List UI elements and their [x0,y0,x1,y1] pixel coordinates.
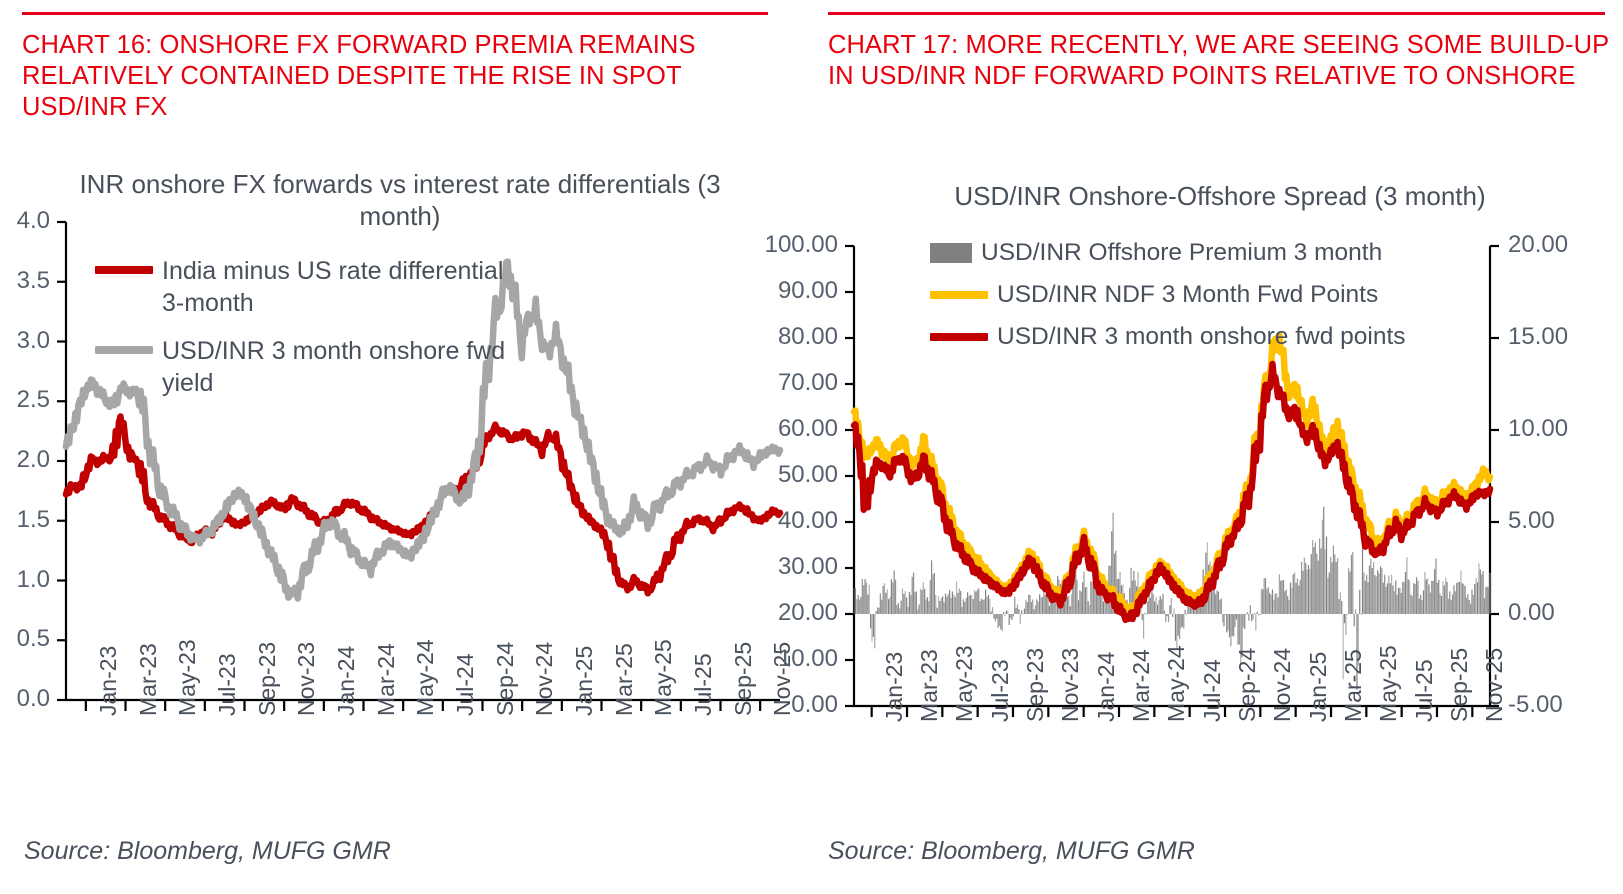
chart-17-panel: CHART 17: MORE RECENTLY, WE ARE SEEING S… [790,0,1623,894]
x-axis-tick-label: Jul-24 [452,653,479,716]
y-axis-tick-label: 1.5 [17,506,50,534]
secondary-y-axis-tick-label: 10.00 [1508,415,1568,443]
legend-label-usdinr-onshore-fwd-yield: USD/INR 3 month onshore fwd yield [162,335,525,399]
x-axis-tick-label: Nov-23 [1057,648,1084,722]
x-axis-tick-label: May-25 [650,639,677,716]
x-axis-tick-label: Mar-25 [611,643,638,716]
x-axis-tick-label: Mar-23 [135,643,162,716]
slide-page: CHART 16: ONSHORE FX FORWARD PREMIA REMA… [0,0,1623,894]
chart-17-legend: USD/INR Offshore Premium 3 month USD/INR… [930,238,1450,364]
x-axis-tick-label: Nov-23 [293,642,320,716]
legend-swatch-line-red [95,266,153,274]
y-axis-tick-label: 3.5 [17,267,50,295]
y-axis-tick-label: 80.00 [778,323,838,351]
x-axis-tick-label: May-24 [412,639,439,716]
x-axis-tick-label: Sep-25 [1446,648,1473,722]
chart-17-plot [790,0,1623,894]
y-axis-tick-label: 100.00 [765,231,838,259]
x-axis-tick-label: Jul-23 [987,659,1014,722]
legend-item-ndf-fwd-points: USD/INR NDF 3 Month Fwd Points [930,280,1450,310]
x-axis-tick-label: Nov-25 [1481,648,1508,722]
y-axis-tick-label: 0.0 [17,685,50,713]
y-axis-tick-label: 60.00 [778,415,838,443]
x-axis-tick-label: Jan-24 [1093,652,1120,722]
x-axis-tick-label: Jul-24 [1199,659,1226,722]
y-axis-tick-label: 10.00 [778,645,838,673]
chart-16-legend: India minus US rate differential 3-month… [95,255,525,405]
y-axis-tick-label: 30.00 [778,553,838,581]
x-axis-tick-label: Mar-25 [1340,649,1367,722]
x-axis-tick-label: Jul-23 [214,653,241,716]
x-axis-tick-label: Sep-24 [492,642,519,716]
x-axis-tick-label: Jan-25 [1305,652,1332,722]
legend-swatch-bar-gray [930,243,972,263]
x-axis-tick-label: Nov-24 [1269,648,1296,722]
x-axis-tick-label: Jan-23 [881,652,908,722]
x-axis-tick-label: Jan-24 [333,646,360,716]
legend-swatch-line-gray [95,346,153,354]
y-axis-tick-label: 20.00 [778,599,838,627]
x-axis-tick-label: Mar-23 [916,649,943,722]
x-axis-tick-label: Sep-23 [254,642,281,716]
x-axis-tick-label: May-23 [174,639,201,716]
x-axis-tick-label: Sep-23 [1022,648,1049,722]
y-axis-tick-label: 70.00 [778,369,838,397]
y-axis-tick-label: 1.0 [17,566,50,594]
legend-label-onshore-fwd-points: USD/INR 3 month onshore fwd points [997,322,1406,352]
legend-swatch-line-red [930,333,988,341]
x-axis-tick-label: Mar-24 [373,643,400,716]
secondary-y-axis-tick-label: 20.00 [1508,231,1568,259]
x-axis-tick-label: Nov-24 [531,642,558,716]
line-series [854,335,1490,612]
y-axis-tick-label: 40.00 [778,507,838,535]
chart-16-source: Source: Bloomberg, MUFG GMR [24,837,391,866]
chart-17-source: Source: Bloomberg, MUFG GMR [828,837,1195,866]
legend-item-india-us-differential: India minus US rate differential 3-month [95,255,525,319]
y-axis-tick-label: 90.00 [778,277,838,305]
secondary-y-axis-tick-label: -5.00 [1508,691,1563,719]
y-axis-tick-label: 3.0 [17,327,50,355]
x-axis-tick-label: Sep-25 [730,642,757,716]
x-axis-tick-label: May-25 [1375,645,1402,722]
chart-16-panel: CHART 16: ONSHORE FX FORWARD PREMIA REMA… [0,0,790,894]
x-axis-tick-label: Jul-25 [1411,659,1438,722]
legend-item-offshore-premium: USD/INR Offshore Premium 3 month [930,238,1450,268]
x-axis-tick-label: Sep-24 [1234,648,1261,722]
x-axis-tick-label: May-24 [1163,645,1190,722]
legend-label-ndf-fwd-points: USD/INR NDF 3 Month Fwd Points [997,280,1378,310]
x-axis-tick-label: Jul-25 [690,653,717,716]
legend-item-usdinr-onshore-fwd-yield: USD/INR 3 month onshore fwd yield [95,335,525,399]
legend-swatch-line-yellow [930,291,988,299]
legend-label-offshore-premium: USD/INR Offshore Premium 3 month [981,238,1382,268]
x-axis-tick-label: Jan-23 [95,646,122,716]
legend-item-onshore-fwd-points: USD/INR 3 month onshore fwd points [930,322,1450,352]
secondary-y-axis-tick-label: 0.00 [1508,599,1555,627]
secondary-y-axis-tick-label: 5.00 [1508,507,1555,535]
legend-label-india-us-differential: India minus US rate differential 3-month [162,255,525,319]
chart-16-plot [0,0,790,894]
line-series [854,364,1490,620]
x-axis-tick-label: Jan-25 [571,646,598,716]
y-axis-tick-label: 0.00 [791,691,838,719]
y-axis-tick-label: 50.00 [778,461,838,489]
y-axis-tick-label: 4.0 [17,207,50,235]
secondary-y-axis-tick-label: 15.00 [1508,323,1568,351]
y-axis-tick-label: 2.5 [17,386,50,414]
y-axis-tick-label: 2.0 [17,446,50,474]
y-axis-tick-label: 0.5 [17,625,50,653]
x-axis-tick-label: Mar-24 [1128,649,1155,722]
x-axis-tick-label: May-23 [951,645,978,722]
